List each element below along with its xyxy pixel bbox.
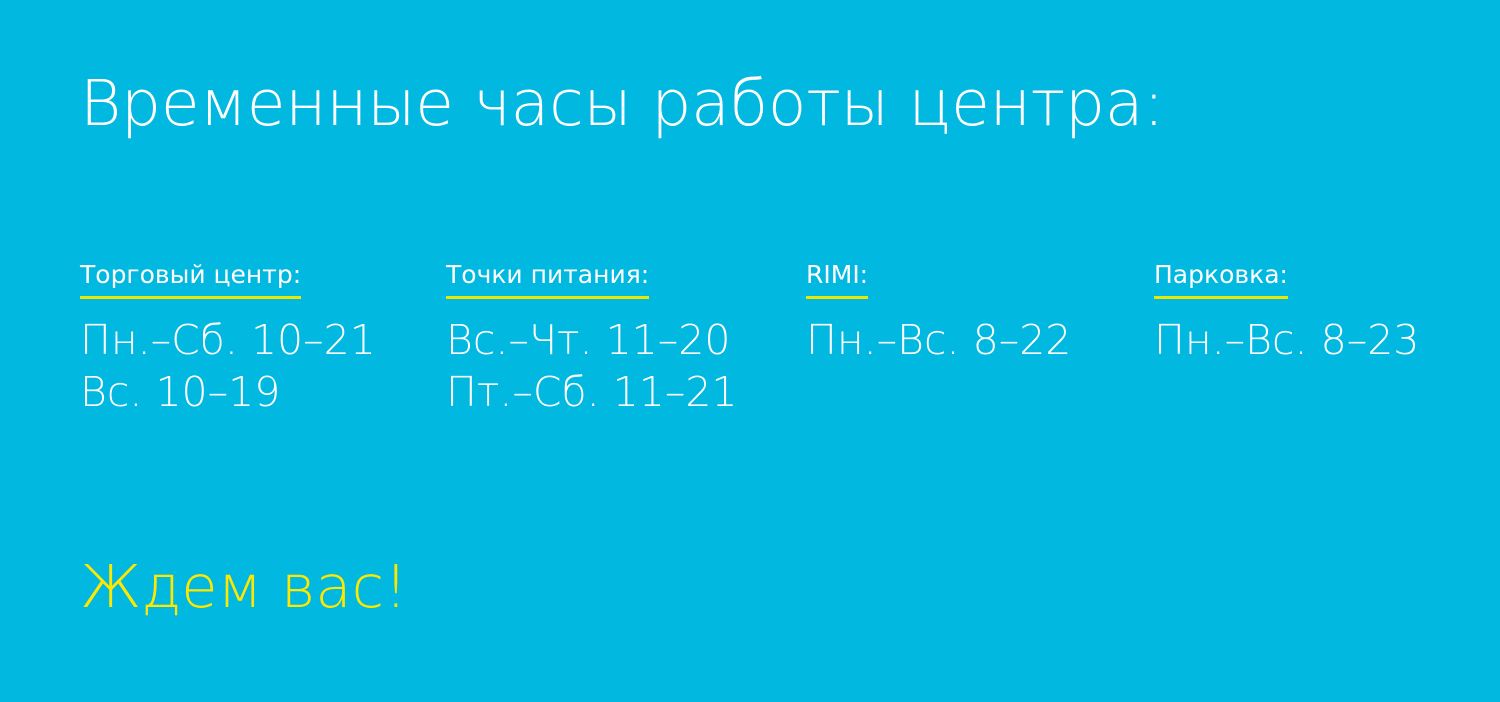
closing-message: Ждем вас!	[80, 557, 408, 616]
hours-column-heading: Парковка:	[1154, 262, 1288, 299]
hours-columns: Торговый центр: Пн.–Сб. 10–21 Вс. 10–19 …	[80, 262, 1480, 452]
opening-hours-notice: Временные часы работы центра: Торговый ц…	[0, 0, 1500, 702]
hours-column-heading: Торговый центр:	[80, 262, 301, 299]
hours-column-food-outlets: Точки питания: Вс.–Чт. 11–20 Пт.–Сб. 11–…	[446, 262, 737, 418]
hours-column-heading: Точки питания:	[446, 262, 649, 299]
hours-line: Пн.–Вс. 8–23	[1154, 315, 1419, 367]
hours-column-values: Пн.–Вс. 8–22	[806, 299, 1071, 367]
hours-line: Пн.–Сб. 10–21	[80, 315, 376, 367]
hours-column-rimi: RIMI: Пн.–Вс. 8–22	[806, 262, 1071, 367]
hours-line: Пт.–Сб. 11–21	[446, 367, 737, 419]
hours-line: Пн.–Вс. 8–22	[806, 315, 1071, 367]
hours-column-values: Пн.–Вс. 8–23	[1154, 299, 1419, 367]
hours-column-shopping-center: Торговый центр: Пн.–Сб. 10–21 Вс. 10–19	[80, 262, 376, 418]
hours-column-heading: RIMI:	[806, 262, 868, 299]
hours-column-values: Пн.–Сб. 10–21 Вс. 10–19	[80, 299, 376, 418]
page-title: Временные часы работы центра:	[80, 72, 1164, 135]
hours-line: Вс. 10–19	[80, 367, 376, 419]
hours-column-parking: Парковка: Пн.–Вс. 8–23	[1154, 262, 1419, 367]
hours-column-values: Вс.–Чт. 11–20 Пт.–Сб. 11–21	[446, 299, 737, 418]
hours-line: Вс.–Чт. 11–20	[446, 315, 737, 367]
